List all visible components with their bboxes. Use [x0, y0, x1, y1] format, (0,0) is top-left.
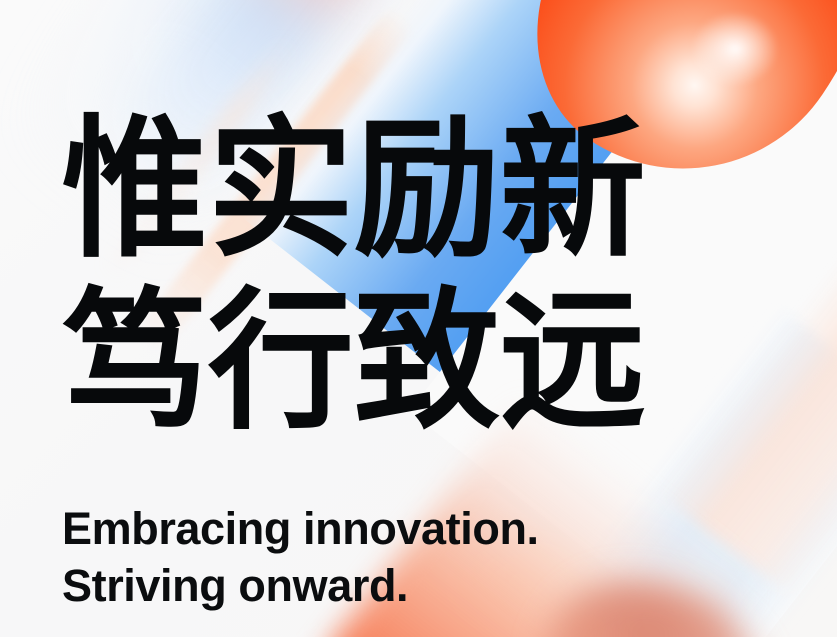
subheadline-line-1: Embracing innovation.	[62, 500, 762, 557]
headline-line-2: 笃行致远	[62, 276, 734, 448]
poster-content: 惟实励新 笃行致远 Embracing innovation. Striving…	[0, 0, 837, 637]
poster-canvas: 惟实励新 笃行致远 Embracing innovation. Striving…	[0, 0, 837, 637]
subheadline-line-2: Striving onward.	[62, 557, 762, 614]
headline-block: 惟实励新 笃行致远	[62, 104, 762, 448]
subheadline-block: Embracing innovation. Striving onward.	[62, 500, 762, 614]
headline-line-1: 惟实励新	[62, 104, 734, 276]
